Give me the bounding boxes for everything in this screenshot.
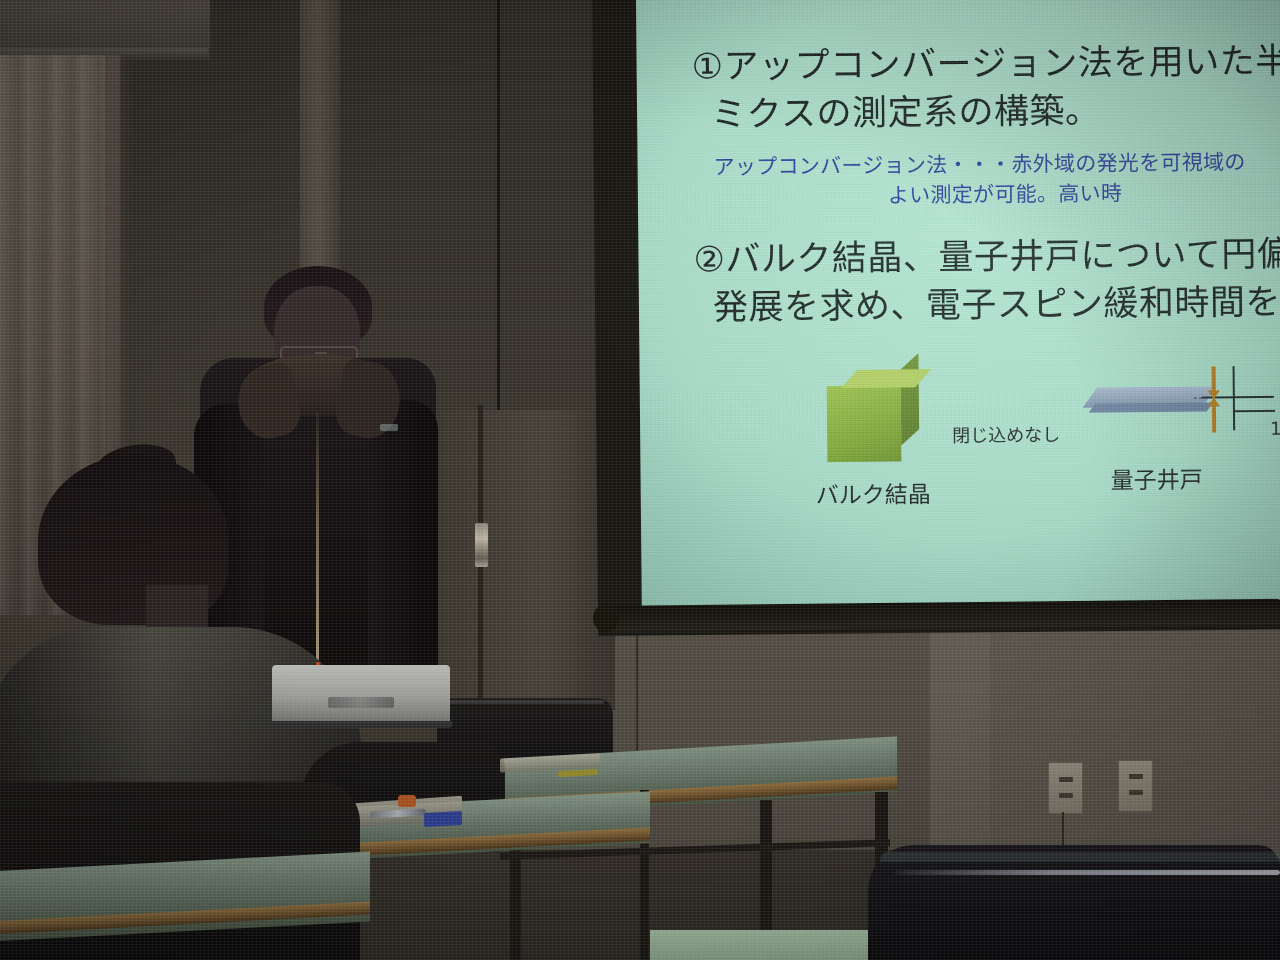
laptop-hinge — [270, 721, 452, 728]
bulk-crystal-cube-icon — [827, 369, 920, 462]
quantum-well-line-lower — [1233, 410, 1275, 412]
blue-marker[interactable] — [424, 811, 462, 827]
no-confinement-label: 閉じ込めなし — [952, 421, 1060, 448]
photo-scene: ①アップコンバージョン法を用いた半導 ミクスの測定系の構築。 アップコンバージョ… — [0, 0, 1280, 960]
bulk-crystal-caption: バルク結晶 — [816, 475, 931, 510]
quantum-well-slab-side — [1089, 402, 1213, 412]
outlet-slot — [1129, 774, 1143, 779]
up-arrow-icon — [1212, 406, 1216, 432]
slide-line-item1-first: ①アップコンバージョン法を用いた半導 — [691, 43, 1280, 87]
slide-content: ①アップコンバージョン法を用いた半導 ミクスの測定系の構築。 アップコンバージョ… — [636, 0, 1280, 608]
slide-line-item2-second: 発展を求め、電子スピン緩和時間を探 — [713, 284, 1280, 328]
outlet-slot — [1129, 790, 1143, 795]
presenter-laptop[interactable] — [272, 665, 450, 727]
outlet-slot — [1059, 777, 1073, 782]
orange-object[interactable] — [398, 795, 416, 807]
cube-side-face — [901, 353, 920, 445]
presenter-jacket-tag — [380, 424, 398, 431]
wall-outlet-right[interactable] — [1118, 760, 1153, 812]
chair-back-highlight — [444, 700, 604, 704]
chair-front-highlight — [895, 870, 1280, 875]
screen-bar-end-knob — [593, 604, 619, 632]
wall-seam-lower — [636, 620, 638, 760]
outlet-slot — [1059, 793, 1073, 798]
diagram-right-label: 1 — [1270, 419, 1280, 440]
quantum-well-diagram — [1090, 372, 1280, 440]
cube-front-face — [827, 385, 902, 462]
slide-line-item1-second: ミクスの測定系の構築。 — [711, 94, 1101, 136]
slide-line-item2-first: ②バルク結晶、量子井戸について円偏 — [693, 237, 1280, 281]
chair-foreground-right[interactable] — [868, 845, 1280, 960]
down-arrow-icon — [1212, 366, 1216, 392]
quantum-well-caption: 量子井戸 — [1110, 461, 1202, 496]
projected-slide: ①アップコンバージョン法を用いた半導 ミクスの測定系の構築。 アップコンバージョ… — [636, 0, 1280, 608]
wall-outlet-left[interactable] — [1048, 762, 1083, 814]
slide-note-upconversion-second: よい測定が可能。高い時 — [888, 177, 1123, 209]
quantum-well-vertical-axis — [1233, 366, 1236, 430]
chair-front-top-trim — [880, 852, 1280, 862]
door-hinge — [475, 523, 488, 567]
classroom-door[interactable] — [440, 410, 615, 710]
wall-seam — [497, 0, 500, 430]
slide-note-upconversion-first: アップコンバージョン法・・・赤外域の発光を可視域の — [713, 146, 1245, 181]
laptop-lid — [272, 665, 450, 723]
laptop-brand-logo — [328, 697, 394, 708]
